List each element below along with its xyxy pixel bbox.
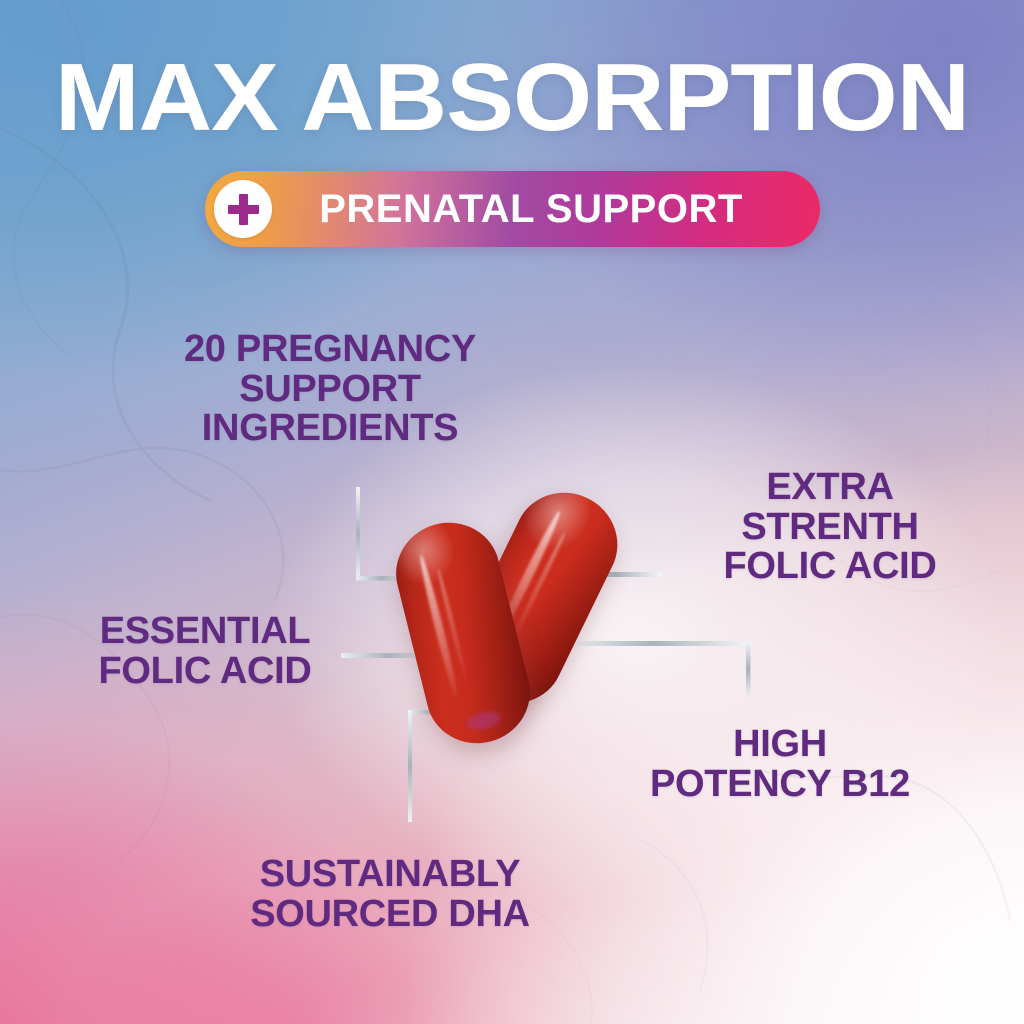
capsule-pair — [395, 485, 655, 750]
feature-label-high-potency-b12: HIGH POTENCY B12 — [600, 725, 960, 804]
feature-label-extra-strength-folic-acid: EXTRA STRENTH FOLIC ACID — [640, 468, 1020, 587]
feature-label-essential-folic-acid: ESSENTIAL FOLIC ACID — [40, 612, 370, 691]
cross-glyph — [228, 194, 259, 225]
feature-label-pregnancy-support-ingredients: 20 PREGNANCY SUPPORT INGREDIENTS — [120, 330, 540, 449]
medical-cross-icon — [214, 180, 272, 238]
product-graphic-canvas: MAX ABSORPTION PRENATAL SUPPORT — [0, 0, 1024, 1024]
badge-label: PRENATAL SUPPORT — [272, 187, 820, 232]
page-title: MAX ABSORPTION — [0, 50, 1024, 146]
feature-label-sustainably-sourced-dha: SUSTAINABLY SOURCED DHA — [180, 855, 600, 934]
prenatal-support-badge: PRENATAL SUPPORT — [205, 171, 820, 247]
capsule-tip-sheen — [465, 709, 502, 733]
